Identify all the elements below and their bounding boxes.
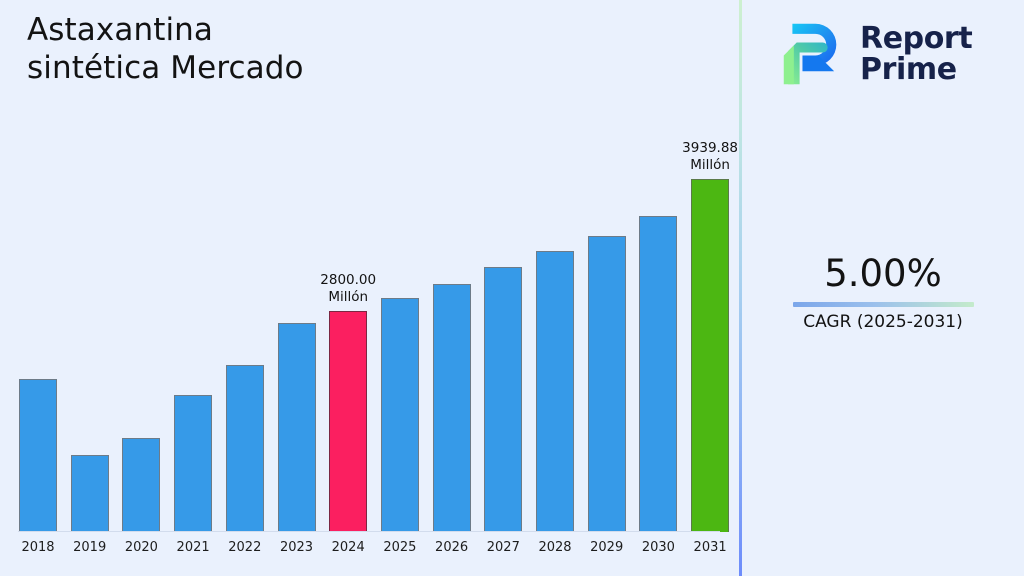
bar-2020 <box>122 438 160 532</box>
bar-2025 <box>381 298 419 532</box>
bar-chart: 2800.00 Millón3939.88 Millón <box>0 0 740 576</box>
bar-2031 <box>691 179 729 532</box>
report-prime-wordmark: Report Prime <box>860 23 972 85</box>
bar-2023 <box>278 323 316 532</box>
bar-2018 <box>19 379 57 532</box>
cagr-block: 5.00% CAGR (2025-2031) <box>742 252 1024 333</box>
cagr-divider-rule <box>793 302 974 307</box>
brand-panel: Report Prime 5.00% CAGR (2025-2031) <box>742 0 1024 576</box>
report-prime-logo: Report Prime <box>778 14 1010 94</box>
screenshot-root: Astaxantina sintética Mercado 2800.00 Mi… <box>0 0 1024 576</box>
cagr-caption: CAGR (2025-2031) <box>742 311 1024 333</box>
bar-2027 <box>484 267 522 532</box>
bar-2024 <box>329 311 367 532</box>
x-tick-2031: 2031 <box>680 540 740 555</box>
bar-2021 <box>174 395 212 532</box>
bar-2029 <box>588 236 626 532</box>
bar-2028 <box>536 251 574 532</box>
bar-2022 <box>226 365 264 532</box>
x-axis-line <box>18 531 720 532</box>
report-prime-logo-icon <box>778 18 850 90</box>
bar-2019 <box>71 455 109 532</box>
cagr-value: 5.00% <box>742 252 1024 296</box>
chart-panel: Astaxantina sintética Mercado 2800.00 Mi… <box>0 0 740 576</box>
plot-area: 2800.00 Millón3939.88 Millón <box>0 0 740 533</box>
bar-2030 <box>639 216 677 532</box>
bar-2026 <box>433 284 471 532</box>
